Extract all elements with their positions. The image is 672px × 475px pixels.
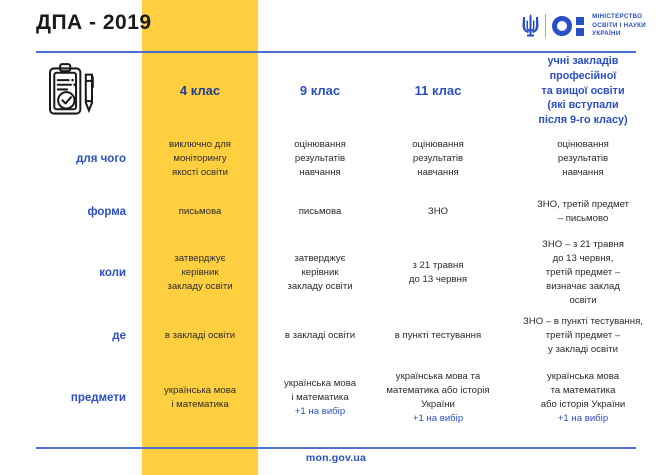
ring-icon: [552, 16, 572, 36]
data-cell: виключно длямоніторингуякості освіти: [142, 138, 258, 180]
comparison-table: 4 клас 9 клас 11 клас учні закладівпрофе…: [0, 52, 672, 437]
data-cell-text: українська мовата математикаабо історія …: [541, 371, 626, 410]
table-row: для чого виключно длямоніторингуякості о…: [0, 130, 672, 188]
square-bottom: [576, 28, 584, 36]
row-label-cell: коли: [0, 265, 142, 282]
data-cell: ЗНО, третій предмет– письмово: [494, 198, 672, 226]
column-header-3-label: 11 клас: [386, 83, 490, 100]
ukraine-trident-icon: [522, 14, 539, 38]
data-cell: українська мовата математикаабо історія …: [494, 370, 672, 426]
row-label-cell: форма: [0, 204, 142, 221]
squares-icon: [576, 17, 584, 36]
data-cell-text: українська моваі математика: [164, 385, 236, 410]
data-cell: ЗНО: [382, 205, 494, 219]
table-header-row: 4 клас 9 клас 11 клас учні закладівпрофе…: [0, 52, 672, 130]
clipboard-checklist-pen-icon: [43, 62, 99, 120]
data-cell: українська мова таматематика або історія…: [382, 370, 494, 426]
data-cell: оцінюваннярезультатівнавчання: [382, 138, 494, 180]
data-cell: українська моваі математика +1 на вибір: [258, 377, 382, 419]
table-row: де в закладі освіти в закладі освіти в п…: [0, 310, 672, 362]
data-cell: в пункті тестування: [382, 329, 494, 343]
data-cell: оцінюваннярезультатівнавчання: [494, 138, 672, 180]
logo-divider: [545, 14, 546, 38]
data-cell: українська моваі математика: [142, 384, 258, 412]
column-header-1: 4 клас: [142, 83, 258, 100]
data-cell: письмова: [142, 205, 258, 219]
page-title: ДПА - 2019: [36, 11, 152, 35]
table-row: форма письмова письмова ЗНО ЗНО, третій …: [0, 188, 672, 236]
ministry-logo: МІНІСТЕРСТВО ОСВІТИ І НАУКИ УКРАЇНИ: [522, 8, 646, 44]
infographic-page: ДПА - 2019: [0, 0, 672, 475]
row-label: для чого: [76, 153, 126, 165]
row-label-cell: предмети: [0, 390, 142, 407]
ministry-name-line-1: МІНІСТЕРСТВО: [592, 13, 646, 22]
column-header-4: учні закладівпрофесійноїта вищої освіти(…: [494, 54, 672, 128]
data-cell: з 21 травнядо 13 червня: [382, 259, 494, 287]
column-header-3: 11 клас: [382, 83, 494, 100]
column-header-2-label: 9 клас: [262, 83, 378, 100]
row-label: форма: [87, 206, 126, 218]
ministry-name-line-2: ОСВІТИ І НАУКИ: [592, 22, 646, 31]
footer-divider-rule: [36, 447, 636, 449]
data-cell-option: +1 на вибір: [262, 405, 378, 419]
column-header-4-label: учні закладівпрофесійноїта вищої освіти(…: [498, 54, 668, 128]
row-label: предмети: [71, 392, 126, 404]
row-label-cell: для чого: [0, 151, 142, 168]
ministry-name-line-3: УКРАЇНИ: [592, 30, 646, 39]
table-row: коли затверджуєкерівникзакладу освіти за…: [0, 236, 672, 310]
header-divider-rule: [36, 51, 636, 53]
header: ДПА - 2019: [0, 0, 672, 52]
data-cell: в закладі освіти: [142, 329, 258, 343]
mon-emblem: [552, 16, 584, 36]
data-cell-text: українська моваі математика: [284, 378, 356, 403]
footer-website[interactable]: mon.gov.ua: [0, 452, 672, 464]
data-cell: ЗНО – в пункті тестування,третій предмет…: [494, 315, 672, 357]
data-cell-option: +1 на вибір: [386, 412, 490, 426]
row-label-cell: де: [0, 328, 142, 345]
data-cell: письмова: [258, 205, 382, 219]
table-row: предмети українська моваі математика укр…: [0, 362, 672, 434]
data-cell: оцінюваннярезультатівнавчання: [258, 138, 382, 180]
data-cell: затверджуєкерівникзакладу освіти: [258, 252, 382, 294]
data-cell: ЗНО – з 21 травнядо 13 червня,третій пре…: [494, 238, 672, 308]
data-cell-option: +1 на вибір: [498, 412, 668, 426]
row-label: де: [112, 330, 126, 342]
corner-icon-cell: [0, 62, 142, 120]
ministry-name: МІНІСТЕРСТВО ОСВІТИ І НАУКИ УКРАЇНИ: [592, 13, 646, 40]
column-header-1-label: 4 клас: [146, 83, 254, 100]
column-header-2: 9 клас: [258, 83, 382, 100]
row-label: коли: [99, 267, 126, 279]
data-cell: в закладі освіти: [258, 329, 382, 343]
square-top: [576, 17, 584, 25]
data-cell-text: українська мова таматематика або історія…: [386, 371, 489, 410]
data-cell: затверджуєкерівникзакладу освіти: [142, 252, 258, 294]
